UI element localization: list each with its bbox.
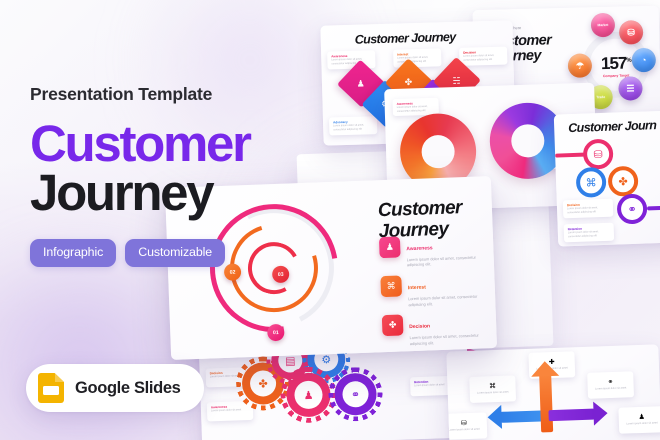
slide-puzzle-title: Customer Journey (355, 31, 456, 47)
orbit-step-01: 01 (267, 324, 285, 342)
tag-pill-customizable[interactable]: Customizable (125, 239, 225, 266)
title-line-1: Customer (30, 119, 330, 168)
cart-icon: ⛁ (461, 420, 467, 427)
snake-tail-left (555, 153, 585, 158)
arrow-right-icon (548, 409, 594, 422)
stat-value: 157% (590, 54, 642, 72)
list-item-title: Interest (408, 285, 426, 292)
mini-card: Retention Lorem ipsum dolor sit amet, co… (564, 223, 615, 243)
eyebrow-text: Presentation Template (30, 86, 330, 104)
list-item-body: Lorem ipsum dolor sit amet, consectetur … (410, 332, 487, 347)
google-slides-icon (38, 373, 64, 403)
slide-snake[interactable]: Customer Journ 01| ⛁ ⌘ ✤ ⚭ Decision Lore… (554, 109, 660, 246)
customer-icon: ♟ (379, 236, 401, 258)
poster-canvas: Customer Journey Awareness Lorem ipsum d… (0, 0, 660, 440)
link-icon: ⚭ (607, 379, 613, 386)
arrow-card-person: ♟ Lorem ipsum dolor sit amet (618, 406, 660, 434)
person-icon: ♟ (638, 414, 645, 421)
journey-list: ♟ Awareness Lorem ipsum dolor sit amet, … (379, 233, 487, 354)
google-slides-label: Google Slides (75, 379, 180, 398)
network-icon: ⌘ (380, 276, 402, 298)
list-item-body: Lorem ipsum dolor sit amet, consectetur … (407, 254, 484, 269)
google-slides-badge[interactable]: Google Slides (26, 364, 204, 412)
title-line-2: Journey (30, 168, 330, 217)
tag-pill-group: Infographic Customizable (30, 239, 330, 266)
hero-block: Presentation Template Customer Journey I… (30, 86, 330, 267)
slide-snake-title: Customer Journ (568, 119, 657, 135)
list-item: ⌘ Interest Lorem ipsum dolor sit amet, c… (380, 273, 485, 309)
arrow-up-icon (539, 374, 553, 432)
snake-tail-right (647, 205, 660, 210)
choice-icon: ✤ (382, 315, 404, 337)
list-item: ✤ Decision Lorem ipsum dolor sit amet, c… (382, 312, 487, 348)
arrow-card-network: ⌘ Lorem ipsum dolor sit amet (469, 375, 516, 403)
snake-ring-target: ✤ (608, 166, 639, 197)
badge-payment: ☰ (618, 76, 643, 101)
mini-card: Decision Lorem ipsum dolor sit amet, con… (563, 199, 614, 219)
page-title: Customer Journey (30, 119, 330, 218)
gear-link: ⚭ (334, 373, 377, 416)
arrow-card-cart: ⛁ Lorem ipsum dolor sit amet (446, 412, 487, 440)
list-item-title: Decision (409, 324, 430, 331)
snake-ring-cart: ⛁ (583, 139, 614, 170)
gear-customer: ♟ (286, 372, 332, 418)
snake-ring-network: ⌘ (576, 167, 607, 198)
arrow-card-link: ⚭ Lorem ipsum dolor sit amet (587, 371, 634, 399)
network-icon: ⌘ (489, 383, 496, 390)
list-item: ♟ Awareness Lorem ipsum dolor sit amet, … (379, 233, 484, 269)
snake-ring-link: ⚭ (617, 193, 648, 224)
list-item-body: Lorem ipsum dolor sit amet, consectetur … (408, 293, 485, 308)
slide-arrows[interactable]: ✚ Lorem ipsum dolor sit amet ⌘ Lorem ips… (446, 344, 660, 440)
list-item-title: Awareness (406, 245, 433, 252)
tag-pill-infographic[interactable]: Infographic (30, 239, 116, 266)
